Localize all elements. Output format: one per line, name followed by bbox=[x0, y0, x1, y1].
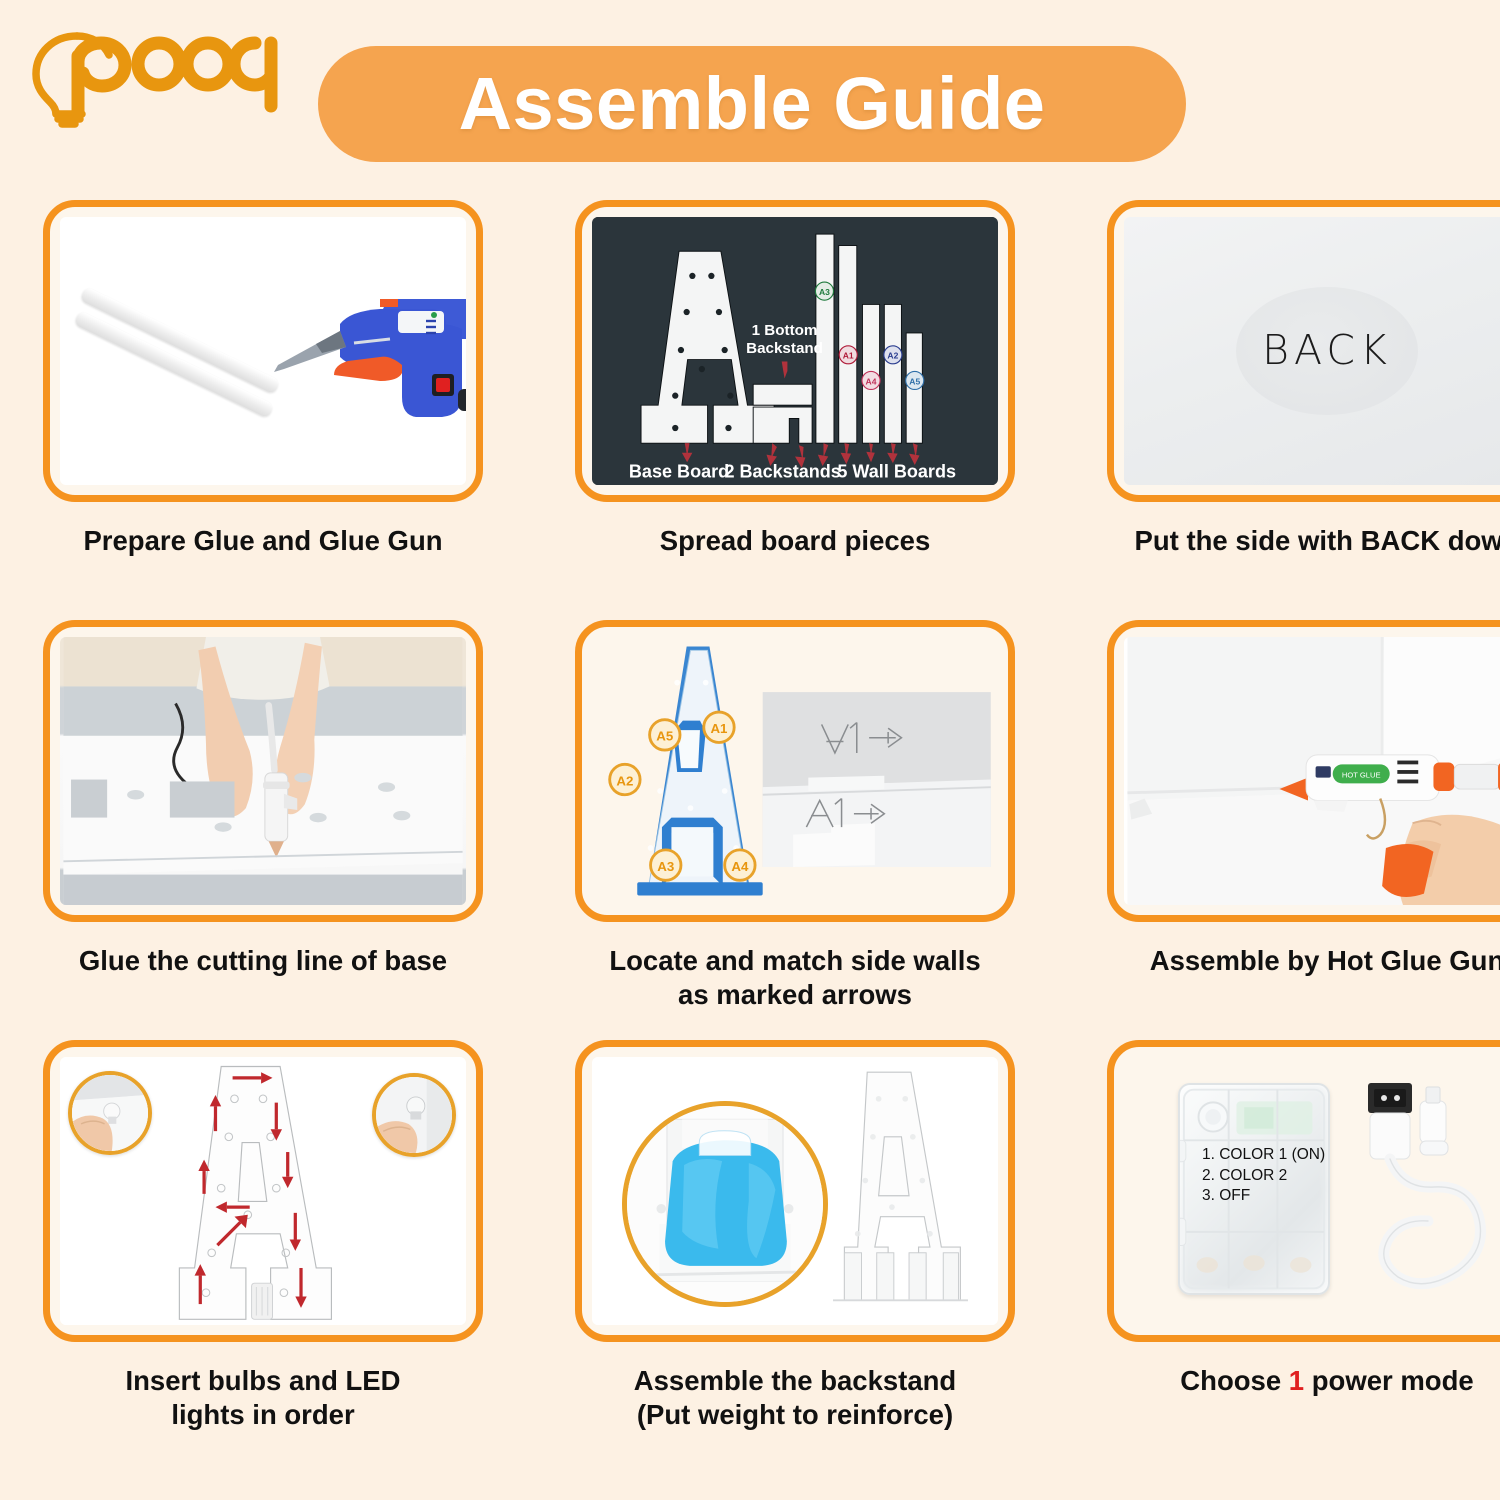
svg-text:2 Backstands: 2 Backstands bbox=[724, 461, 840, 481]
hot-glue-assembly-photo: HOT GLUE bbox=[1124, 637, 1500, 905]
svg-text:A1: A1 bbox=[843, 351, 854, 361]
bulb-insert-inset-left bbox=[68, 1071, 152, 1155]
svg-text:A3: A3 bbox=[819, 287, 830, 297]
svg-text:A5: A5 bbox=[909, 376, 920, 386]
step-card-4: Glue the cutting line of base bbox=[28, 620, 498, 1040]
step-8-caption-line1: Assemble the backstand bbox=[634, 1365, 956, 1396]
svg-text:5 Wall Boards: 5 Wall Boards bbox=[837, 461, 956, 481]
step-3-caption: Put the side with BACK down bbox=[1092, 524, 1500, 558]
board-pieces-diagram: A3 A1 A4 A2 A5 bbox=[592, 217, 998, 485]
step-2-caption: Spread board pieces bbox=[560, 524, 1030, 558]
page-title: Assemble Guide bbox=[459, 67, 1046, 141]
back-label: BACK bbox=[1262, 326, 1392, 374]
assemble-guide-page: Assemble Guide bbox=[0, 0, 1500, 1500]
bulb-insert-inset-right bbox=[372, 1073, 456, 1157]
svg-text:A5: A5 bbox=[656, 729, 674, 744]
step-8-caption-line2: (Put weight to reinforce) bbox=[637, 1399, 953, 1430]
step-8-caption: Assemble the backstand (Put weight to re… bbox=[560, 1364, 1030, 1431]
power-mode-list: 1. COLOR 1 (ON) 2. COLOR 2 3. OFF bbox=[1202, 1145, 1325, 1207]
svg-text:Base Board: Base Board bbox=[629, 461, 729, 481]
step-9-caption-suffix: power mode bbox=[1304, 1365, 1474, 1396]
svg-text:A4: A4 bbox=[866, 376, 877, 386]
svg-text:A2: A2 bbox=[887, 351, 898, 361]
blue-glue-gun-icon bbox=[230, 269, 466, 439]
header: Assemble Guide bbox=[0, 0, 1500, 200]
step-card-7: Insert bulbs and LED lights in order bbox=[28, 1040, 498, 1500]
step-card-9: 1. COLOR 1 (ON) 2. COLOR 2 3. OFF bbox=[1092, 1040, 1500, 1500]
svg-text:A3: A3 bbox=[657, 859, 674, 874]
svg-text:A1: A1 bbox=[710, 721, 728, 736]
usb-cable-icon bbox=[1342, 1079, 1500, 1299]
step-card-3: BACK Put the side with BACK down bbox=[1092, 200, 1500, 620]
step-card-2: A3 A1 A4 A2 A5 bbox=[560, 200, 1030, 620]
a1-match-photo bbox=[763, 692, 991, 867]
step-9-caption-prefix: Choose bbox=[1180, 1365, 1288, 1396]
gluing-base-photo bbox=[60, 637, 466, 905]
step-card-8: Assemble the backstand (Put weight to re… bbox=[560, 1040, 1030, 1500]
svg-text:HOT GLUE: HOT GLUE bbox=[1342, 771, 1381, 780]
backstand-weight-inset bbox=[622, 1101, 828, 1307]
step-2-image: A3 A1 A4 A2 A5 bbox=[575, 200, 1015, 502]
svg-text:A4: A4 bbox=[731, 859, 749, 874]
step-5-caption-line1: Locate and match side walls bbox=[609, 945, 980, 976]
steps-grid: Prepare Glue and Glue Gun bbox=[0, 200, 1500, 1500]
svg-text:A2: A2 bbox=[616, 773, 633, 788]
step-4-caption: Glue the cutting line of base bbox=[28, 944, 498, 978]
step-7-caption: Insert bulbs and LED lights in order bbox=[28, 1364, 498, 1431]
step-9-caption-number: 1 bbox=[1289, 1365, 1304, 1396]
step-3-image: BACK bbox=[1107, 200, 1500, 502]
step-7-caption-line1: Insert bulbs and LED bbox=[125, 1365, 400, 1396]
step-card-5: A1 A2 A3 A4 A5 bbox=[560, 620, 1030, 1040]
step-7-caption-line2: lights in order bbox=[171, 1399, 354, 1430]
step-6-image: HOT GLUE bbox=[1107, 620, 1500, 922]
svg-text:Backstand: Backstand bbox=[746, 340, 823, 357]
power-mode-item-1: 1. COLOR 1 (ON) bbox=[1202, 1145, 1325, 1166]
letter-a-side-wall-markers: A1 A2 A3 A4 A5 bbox=[592, 637, 998, 905]
svg-text:1 Bottom: 1 Bottom bbox=[752, 322, 818, 339]
step-5-caption: Locate and match side walls as marked ar… bbox=[560, 944, 1030, 1011]
step-1-image bbox=[43, 200, 483, 502]
step-6-caption: Assemble by Hot Glue Gun bbox=[1092, 944, 1500, 978]
step-8-image bbox=[575, 1040, 1015, 1342]
step-9-caption: Choose 1 power mode bbox=[1092, 1364, 1500, 1398]
power-mode-item-3: 3. OFF bbox=[1202, 1186, 1325, 1207]
step-7-image bbox=[43, 1040, 483, 1342]
brand-logo bbox=[22, 18, 292, 128]
step-1-caption: Prepare Glue and Glue Gun bbox=[28, 524, 498, 558]
step-5-image: A1 A2 A3 A4 A5 bbox=[575, 620, 1015, 922]
step-card-6: HOT GLUE bbox=[1092, 620, 1500, 1040]
step-4-image bbox=[43, 620, 483, 922]
page-title-banner: Assemble Guide bbox=[318, 46, 1186, 162]
step-5-caption-line2: as marked arrows bbox=[678, 979, 912, 1010]
lightbulb-p-logo-icon bbox=[22, 18, 292, 128]
step-card-1: Prepare Glue and Glue Gun bbox=[28, 200, 498, 620]
step-9-image: 1. COLOR 1 (ON) 2. COLOR 2 3. OFF bbox=[1107, 1040, 1500, 1342]
power-mode-item-2: 2. COLOR 2 bbox=[1202, 1166, 1325, 1187]
